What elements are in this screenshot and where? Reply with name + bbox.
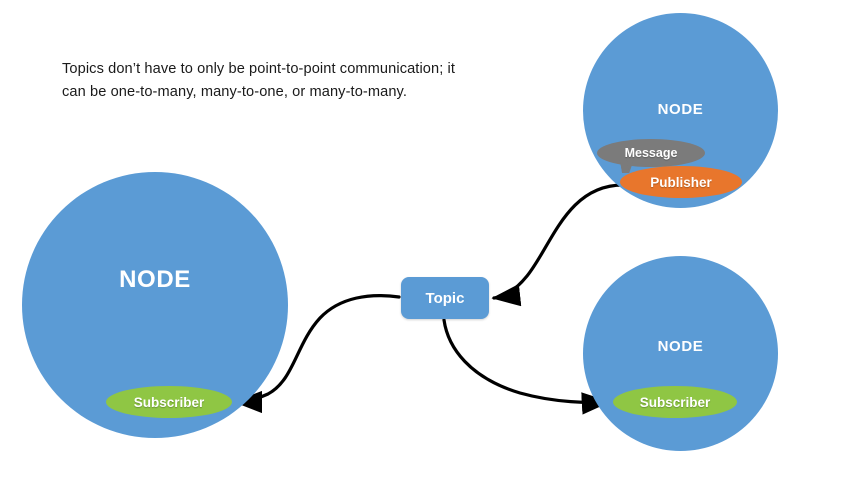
node-left-label: NODE: [22, 266, 288, 294]
edge-publisher-to-topic: [494, 185, 623, 298]
topic-label: Topic: [426, 290, 465, 307]
topic-box[interactable]: Topic: [401, 277, 489, 319]
message-callout[interactable]: Message: [597, 139, 705, 167]
message-label: Message: [625, 146, 678, 160]
caption-text: Topics don’t have to only be point-to-po…: [62, 58, 482, 103]
subscriber-pill-bottom-right[interactable]: Subscriber: [613, 386, 737, 418]
node-bottom-right[interactable]: NODE: [583, 256, 778, 451]
publisher-pill[interactable]: Publisher: [620, 166, 742, 198]
slide-canvas: Topics don’t have to only be point-to-po…: [0, 0, 854, 480]
node-bottom-right-label: NODE: [583, 338, 778, 355]
subscriber-left-label: Subscriber: [134, 395, 205, 410]
publisher-label: Publisher: [650, 175, 712, 190]
subscriber-bottom-right-label: Subscriber: [640, 395, 711, 410]
subscriber-pill-left[interactable]: Subscriber: [106, 386, 232, 418]
node-top-right-label: NODE: [583, 101, 778, 118]
